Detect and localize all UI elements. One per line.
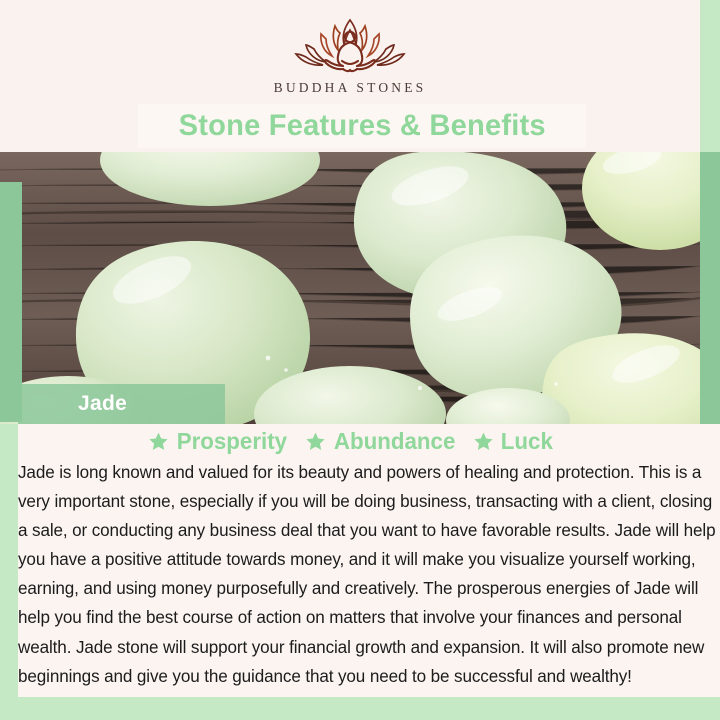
right-accent-bar: [700, 152, 720, 424]
infographic-card: BUDDHA STONES Stone Features & Benefits: [0, 0, 720, 720]
stone-name: Jade: [18, 392, 127, 416]
star-icon: [148, 431, 169, 452]
benefit-item: Abundance: [305, 428, 457, 455]
benefit-item: Luck: [473, 428, 554, 455]
brand-name: BUDDHA STONES: [274, 80, 427, 96]
title-banner: Stone Features & Benefits: [138, 104, 586, 148]
stone-description: Jade is long known and valued for its be…: [18, 458, 718, 691]
page-title: Stone Features & Benefits: [178, 109, 545, 143]
lotus-meditation-icon: [280, 14, 420, 76]
benefit-item: Prosperity: [148, 428, 289, 455]
star-icon: [473, 431, 494, 452]
benefits-row: Prosperity Abundance Luck: [0, 424, 702, 458]
benefit-label: Prosperity: [177, 428, 287, 455]
benefit-label: Luck: [501, 428, 553, 455]
benefit-label: Abundance: [334, 428, 455, 455]
brand-logo: BUDDHA STONES: [0, 14, 700, 96]
stone-name-band: Jade: [18, 384, 225, 424]
star-icon: [305, 431, 326, 452]
